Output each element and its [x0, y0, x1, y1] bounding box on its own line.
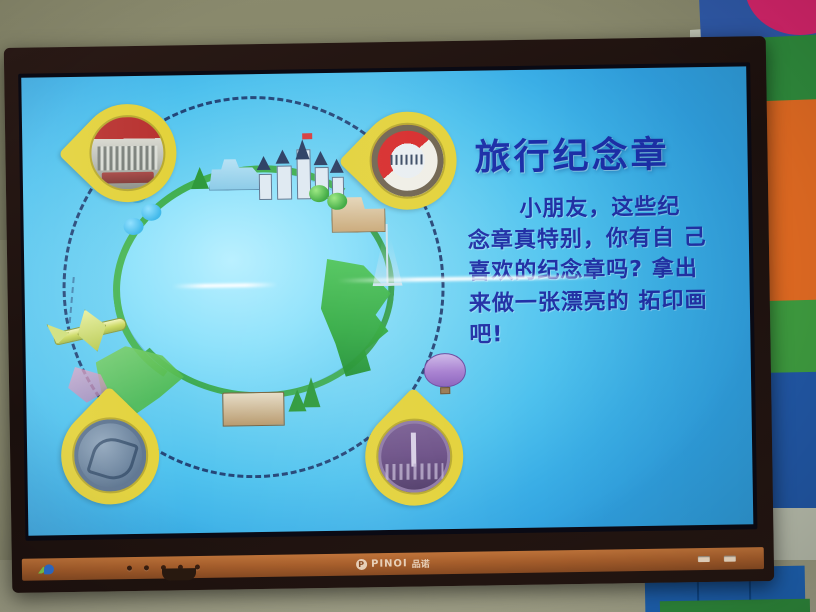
slide-body-text: 小朋友，这些纪 念章真特别，你有自 己喜欢的纪念章吗? 拿出来做一张漂亮的 拓印…	[467, 191, 721, 351]
brand-name: PINOI	[371, 558, 408, 570]
slide-title: 旅行纪念章	[474, 126, 670, 181]
usb-port[interactable]	[698, 556, 710, 562]
pin-top-left[interactable]	[78, 103, 178, 217]
display-button[interactable]	[144, 565, 149, 570]
brand-name-cn: 品诺	[412, 557, 430, 570]
ir-receiver	[162, 568, 196, 581]
usb-port[interactable]	[724, 556, 736, 562]
display-screen[interactable]: 旅行纪念章 小朋友，这些纪 念章真特别，你有自 己喜欢的纪念章吗? 拿出来做一张…	[21, 66, 753, 535]
display-port-row[interactable]	[698, 556, 736, 563]
pin-bottom-right[interactable]	[364, 407, 464, 521]
tree-icon	[191, 167, 209, 189]
bottom-building-icon	[222, 392, 285, 427]
pin-bottom-left[interactable]	[60, 406, 160, 520]
tree-icon	[302, 377, 320, 407]
brand-mark-icon: P	[356, 559, 367, 570]
slide-body-line-1: 小朋友，这些纪	[467, 191, 719, 226]
cabinet-green-band	[660, 599, 810, 612]
display-button[interactable]	[127, 566, 132, 571]
photo-scene: 旅行纪念章 小朋友，这些纪 念章真特别，你有自 己喜欢的纪念章吗? 拿出来做一张…	[0, 0, 816, 612]
interactive-display[interactable]: 旅行纪念章 小朋友，这些纪 念章真特别，你有自 己喜欢的纪念章吗? 拿出来做一张…	[4, 36, 774, 593]
brand-nameplate: P PINOI 品诺	[356, 557, 430, 571]
hot-air-balloon-icon	[424, 353, 467, 388]
brand-logo-icon	[38, 564, 54, 574]
slide-body-line-2: 念章真特别，你有自	[468, 226, 675, 254]
pin-top-right[interactable]	[358, 111, 458, 225]
castle-icon	[254, 143, 347, 200]
presentation-slide: 旅行纪念章 小朋友，这些纪 念章真特别，你有自 己喜欢的纪念章吗? 拿出来做一张…	[21, 66, 753, 535]
